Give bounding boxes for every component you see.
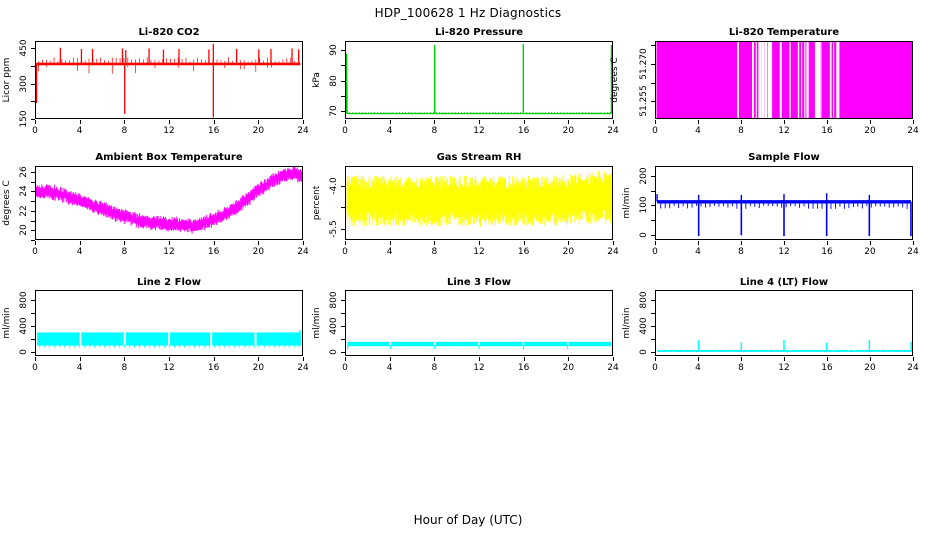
x-tick-ambient-box-temperature-5: [258, 241, 259, 245]
data-trace-li820-co2: [36, 42, 302, 118]
x-tick-sample-flow-1: [698, 241, 699, 245]
x-tick-li820-co2-4: [214, 120, 215, 124]
y-tick-ambient-box-temperature-2: [31, 191, 35, 192]
y-tick-ambient-box-temperature-3: [31, 172, 35, 173]
x-tick-li820-pressure-1: [390, 120, 391, 124]
plot-area-line-3-flow: [345, 290, 613, 356]
x-tick-label-sample-flow-5: 20: [856, 247, 884, 257]
x-tick-label-sample-flow-4: 16: [813, 247, 841, 257]
x-tick-label-li820-temperature-3: 12: [770, 126, 798, 136]
plot-area-li820-pressure: [345, 41, 613, 119]
x-tick-li820-temperature-4: [827, 120, 828, 124]
y-tick-label-gas-stream-rh-1: -4.0: [328, 169, 340, 203]
x-tick-gas-stream-rh-3: [479, 241, 480, 245]
x-tick-li820-pressure-2: [434, 120, 435, 124]
x-tick-label-ambient-box-temperature-2: 8: [110, 247, 138, 257]
global-x-axis-label: Hour of Day (UTC): [0, 513, 936, 527]
x-tick-gas-stream-rh-4: [524, 241, 525, 245]
x-tick-line-2-flow-1: [80, 357, 81, 361]
x-tick-label-line-4-lt-flow-6: 24: [899, 363, 927, 373]
x-tick-li820-temperature-0: [655, 120, 656, 124]
x-tick-label-li820-pressure-1: 4: [376, 126, 404, 136]
y-tick-minor: [651, 313, 655, 314]
x-tick-label-line-2-flow-6: 24: [289, 363, 317, 373]
y-tick-label-li820-temperature-1: 51.270: [638, 47, 650, 81]
y-tick-ambient-box-temperature-0: [31, 230, 35, 231]
x-tick-line-2-flow-3: [169, 357, 170, 361]
plot-area-line-2-flow: [35, 290, 303, 356]
x-tick-label-gas-stream-rh-0: 0: [331, 247, 359, 257]
x-tick-label-sample-flow-6: 24: [899, 247, 927, 257]
x-tick-label-gas-stream-rh-3: 12: [465, 247, 493, 257]
y-tick-label-li820-pressure-0: 70: [328, 94, 340, 128]
x-tick-ambient-box-temperature-6: [303, 241, 304, 245]
y-tick-label-line-3-flow-2: 800: [328, 283, 340, 317]
data-trace-line-3-flow: [346, 291, 612, 355]
y-axis-label-ambient-box-temperature: degrees C: [1, 168, 13, 238]
x-tick-li820-co2-3: [169, 120, 170, 124]
y-tick-minor: [651, 220, 655, 221]
y-tick-line-3-flow-2: [341, 300, 345, 301]
x-tick-line-3-flow-0: [345, 357, 346, 361]
y-tick-li820-pressure-1: [341, 81, 345, 82]
panel-title-line-4-lt-flow: Line 4 (LT) Flow: [655, 277, 913, 288]
x-tick-line-4-lt-flow-2: [741, 357, 742, 361]
y-tick-line-2-flow-0: [31, 352, 35, 353]
data-trace-ambient-box-temperature: [36, 167, 302, 239]
x-tick-line-3-flow-2: [434, 357, 435, 361]
x-tick-line-2-flow-2: [124, 357, 125, 361]
y-tick-label-li820-pressure-2: 90: [328, 33, 340, 67]
y-tick-minor: [31, 221, 35, 222]
x-tick-sample-flow-3: [784, 241, 785, 245]
x-tick-li820-temperature-6: [913, 120, 914, 124]
x-tick-ambient-box-temperature-1: [80, 241, 81, 245]
x-tick-label-line-2-flow-2: 8: [110, 363, 138, 373]
data-trace-line-2-flow: [36, 291, 302, 355]
x-tick-label-li820-pressure-5: 20: [554, 126, 582, 136]
x-tick-line-2-flow-0: [35, 357, 36, 361]
x-tick-label-line-3-flow-0: 0: [331, 363, 359, 373]
x-tick-label-gas-stream-rh-2: 8: [420, 247, 448, 257]
x-tick-ambient-box-temperature-2: [124, 241, 125, 245]
y-tick-minor: [31, 339, 35, 340]
x-tick-label-line-3-flow-2: 8: [420, 363, 448, 373]
panel-title-sample-flow: Sample Flow: [655, 152, 913, 163]
y-axis-label-gas-stream-rh: percent: [311, 168, 323, 238]
x-tick-label-li820-temperature-4: 16: [813, 126, 841, 136]
y-tick-minor: [31, 313, 35, 314]
x-tick-li820-co2-1: [80, 120, 81, 124]
plot-area-sample-flow: [655, 166, 913, 240]
x-tick-ambient-box-temperature-3: [169, 241, 170, 245]
x-tick-label-li820-pressure-6: 24: [599, 126, 627, 136]
x-tick-li820-temperature-5: [870, 120, 871, 124]
data-trace-li820-temperature: [656, 42, 912, 118]
x-tick-li820-pressure-5: [568, 120, 569, 124]
y-tick-li820-pressure-2: [341, 50, 345, 51]
y-tick-minor: [31, 182, 35, 183]
x-tick-label-ambient-box-temperature-5: 20: [244, 247, 272, 257]
data-trace-sample-flow: [656, 167, 912, 239]
x-tick-label-li820-pressure-4: 16: [510, 126, 538, 136]
panel-title-li820-temperature: Li-820 Temperature: [655, 27, 913, 38]
y-tick-line-3-flow-0: [341, 352, 345, 353]
x-tick-label-gas-stream-rh-1: 4: [376, 247, 404, 257]
x-tick-line-4-lt-flow-3: [784, 357, 785, 361]
x-tick-label-line-2-flow-5: 20: [244, 363, 272, 373]
y-tick-label-gas-stream-rh-0: -5.5: [328, 212, 340, 246]
x-tick-line-4-lt-flow-6: [913, 357, 914, 361]
y-tick-label-sample-flow-1: 100: [638, 188, 650, 222]
x-tick-label-li820-pressure-0: 0: [331, 126, 359, 136]
x-tick-label-li820-temperature-1: 4: [684, 126, 712, 136]
x-tick-line-4-lt-flow-0: [655, 357, 656, 361]
y-tick-minor: [31, 201, 35, 202]
x-tick-li820-temperature-2: [741, 120, 742, 124]
x-tick-li820-co2-0: [35, 120, 36, 124]
x-tick-li820-temperature-3: [784, 120, 785, 124]
y-tick-gas-stream-rh-0: [341, 229, 345, 230]
x-tick-li820-temperature-1: [698, 120, 699, 124]
y-tick-label-line-2-flow-2: 800: [18, 283, 30, 317]
y-tick-ambient-box-temperature-1: [31, 211, 35, 212]
y-tick-minor: [651, 45, 655, 46]
panel-title-li820-pressure: Li-820 Pressure: [345, 27, 613, 38]
y-tick-li820-temperature-0: [651, 101, 655, 102]
x-tick-li820-pressure-4: [524, 120, 525, 124]
y-tick-line-3-flow-1: [341, 326, 345, 327]
x-tick-label-li820-co2-3: 12: [155, 126, 183, 136]
y-tick-sample-flow-1: [651, 205, 655, 206]
plot-area-li820-co2: [35, 41, 303, 119]
x-tick-label-li820-co2-5: 20: [244, 126, 272, 136]
y-tick-minor: [31, 66, 35, 67]
y-axis-label-li820-pressure: kPa: [311, 45, 323, 115]
y-tick-minor: [341, 207, 345, 208]
y-tick-minor: [341, 96, 345, 97]
y-tick-li820-pressure-0: [341, 111, 345, 112]
x-tick-label-sample-flow-2: 8: [727, 247, 755, 257]
x-tick-sample-flow-6: [913, 241, 914, 245]
y-tick-gas-stream-rh-1: [341, 186, 345, 187]
y-axis-label-line-4-lt-flow: ml/min: [621, 288, 633, 358]
page-title: HDP_100628 1 Hz Diagnostics: [0, 6, 936, 20]
x-tick-label-ambient-box-temperature-0: 0: [21, 247, 49, 257]
x-tick-ambient-box-temperature-0: [35, 241, 36, 245]
x-tick-gas-stream-rh-5: [568, 241, 569, 245]
x-tick-line-3-flow-5: [568, 357, 569, 361]
x-tick-label-sample-flow-0: 0: [641, 247, 669, 257]
x-tick-line-3-flow-3: [479, 357, 480, 361]
x-tick-line-4-lt-flow-4: [827, 357, 828, 361]
x-tick-label-line-3-flow-4: 16: [510, 363, 538, 373]
x-tick-label-ambient-box-temperature-3: 12: [155, 247, 183, 257]
x-tick-gas-stream-rh-2: [434, 241, 435, 245]
diagnostics-figure: HDP_100628 1 Hz Diagnostics Hour of Day …: [0, 0, 936, 540]
y-axis-label-li820-temperature: degrees C: [609, 45, 621, 115]
plot-area-gas-stream-rh: [345, 166, 613, 240]
x-tick-label-li820-co2-0: 0: [21, 126, 49, 136]
x-tick-label-line-3-flow-5: 20: [554, 363, 582, 373]
x-tick-label-sample-flow-3: 12: [770, 247, 798, 257]
x-tick-li820-pressure-0: [345, 120, 346, 124]
x-tick-line-2-flow-6: [303, 357, 304, 361]
data-trace-li820-pressure: [346, 42, 612, 118]
panel-title-li820-co2: Li-820 CO2: [35, 27, 303, 38]
x-tick-li820-pressure-6: [613, 120, 614, 124]
x-tick-label-li820-temperature-5: 20: [856, 126, 884, 136]
x-tick-label-gas-stream-rh-4: 16: [510, 247, 538, 257]
x-tick-label-li820-co2-6: 24: [289, 126, 317, 136]
y-tick-sample-flow-2: [651, 176, 655, 177]
x-tick-label-line-4-lt-flow-5: 20: [856, 363, 884, 373]
x-tick-label-li820-pressure-3: 12: [465, 126, 493, 136]
x-tick-label-gas-stream-rh-5: 20: [554, 247, 582, 257]
y-tick-minor: [31, 101, 35, 102]
x-tick-label-gas-stream-rh-6: 24: [599, 247, 627, 257]
y-axis-label-sample-flow: ml/min: [621, 168, 633, 238]
data-trace-line-4-lt-flow: [656, 291, 912, 355]
y-tick-minor: [341, 65, 345, 66]
y-tick-label-li820-temperature-0: 51.255: [638, 84, 650, 118]
x-tick-label-li820-temperature-6: 24: [899, 126, 927, 136]
y-tick-minor: [651, 83, 655, 84]
x-tick-gas-stream-rh-0: [345, 241, 346, 245]
y-tick-minor: [341, 339, 345, 340]
x-tick-label-line-2-flow-3: 12: [155, 363, 183, 373]
x-tick-label-ambient-box-temperature-4: 16: [200, 247, 228, 257]
x-tick-sample-flow-0: [655, 241, 656, 245]
x-tick-label-sample-flow-1: 4: [684, 247, 712, 257]
y-tick-label-ambient-box-temperature-3: 26: [18, 155, 30, 189]
x-tick-label-line-2-flow-1: 4: [66, 363, 94, 373]
y-tick-minor: [651, 191, 655, 192]
y-tick-line-2-flow-2: [31, 300, 35, 301]
x-tick-label-line-3-flow-1: 4: [376, 363, 404, 373]
x-tick-label-li820-co2-4: 16: [200, 126, 228, 136]
plot-area-line-4-lt-flow: [655, 290, 913, 356]
x-tick-label-ambient-box-temperature-6: 24: [289, 247, 317, 257]
panel-title-ambient-box-temperature: Ambient Box Temperature: [35, 152, 303, 163]
plot-area-li820-temperature: [655, 41, 913, 119]
panel-title-line-2-flow: Line 2 Flow: [35, 277, 303, 288]
x-tick-sample-flow-5: [870, 241, 871, 245]
data-trace-gas-stream-rh: [346, 167, 612, 239]
x-tick-line-4-lt-flow-5: [870, 357, 871, 361]
x-tick-label-line-4-lt-flow-0: 0: [641, 363, 669, 373]
x-tick-label-line-4-lt-flow-2: 8: [727, 363, 755, 373]
y-axis-label-line-3-flow: ml/min: [311, 288, 323, 358]
y-tick-label-li820-co2-2: 450: [18, 31, 30, 65]
x-tick-line-2-flow-4: [214, 357, 215, 361]
x-tick-label-li820-co2-2: 8: [110, 126, 138, 136]
x-tick-label-line-3-flow-3: 12: [465, 363, 493, 373]
x-tick-gas-stream-rh-1: [390, 241, 391, 245]
y-tick-label-li820-co2-1: 300: [18, 67, 30, 101]
y-tick-li820-co2-2: [31, 48, 35, 49]
y-tick-line-2-flow-1: [31, 326, 35, 327]
y-tick-sample-flow-0: [651, 235, 655, 236]
x-tick-li820-pressure-3: [479, 120, 480, 124]
x-tick-li820-co2-2: [124, 120, 125, 124]
x-tick-label-line-2-flow-0: 0: [21, 363, 49, 373]
y-tick-li820-temperature-1: [651, 64, 655, 65]
x-tick-label-ambient-box-temperature-1: 4: [66, 247, 94, 257]
x-tick-label-line-3-flow-6: 24: [599, 363, 627, 373]
x-tick-sample-flow-2: [741, 241, 742, 245]
x-tick-ambient-box-temperature-4: [214, 241, 215, 245]
panel-title-line-3-flow: Line 3 Flow: [345, 277, 613, 288]
x-tick-label-line-2-flow-4: 16: [200, 363, 228, 373]
y-tick-label-line-4-lt-flow-2: 800: [638, 283, 650, 317]
y-tick-label-sample-flow-2: 200: [638, 159, 650, 193]
y-tick-line-4-lt-flow-0: [651, 352, 655, 353]
y-tick-li820-co2-1: [31, 84, 35, 85]
y-tick-line-4-lt-flow-1: [651, 326, 655, 327]
x-tick-label-line-4-lt-flow-3: 12: [770, 363, 798, 373]
x-tick-gas-stream-rh-6: [613, 241, 614, 245]
y-tick-minor: [651, 339, 655, 340]
x-tick-li820-co2-5: [258, 120, 259, 124]
x-tick-label-li820-temperature-2: 8: [727, 126, 755, 136]
x-tick-label-li820-co2-1: 4: [66, 126, 94, 136]
x-tick-label-li820-temperature-0: 0: [641, 126, 669, 136]
y-tick-label-li820-pressure-1: 80: [328, 64, 340, 98]
x-tick-sample-flow-4: [827, 241, 828, 245]
y-axis-label-line-2-flow: ml/min: [1, 288, 13, 358]
y-axis-label-li820-co2: Licor ppm: [1, 45, 13, 115]
x-tick-line-4-lt-flow-1: [698, 357, 699, 361]
plot-area-ambient-box-temperature: [35, 166, 303, 240]
x-tick-line-3-flow-1: [390, 357, 391, 361]
x-tick-li820-co2-6: [303, 120, 304, 124]
x-tick-line-2-flow-5: [258, 357, 259, 361]
x-tick-label-line-4-lt-flow-4: 16: [813, 363, 841, 373]
y-tick-line-4-lt-flow-2: [651, 300, 655, 301]
x-tick-line-3-flow-4: [524, 357, 525, 361]
panel-title-gas-stream-rh: Gas Stream RH: [345, 152, 613, 163]
y-tick-minor: [341, 313, 345, 314]
x-tick-line-3-flow-6: [613, 357, 614, 361]
x-tick-label-line-4-lt-flow-1: 4: [684, 363, 712, 373]
x-tick-label-li820-pressure-2: 8: [420, 126, 448, 136]
